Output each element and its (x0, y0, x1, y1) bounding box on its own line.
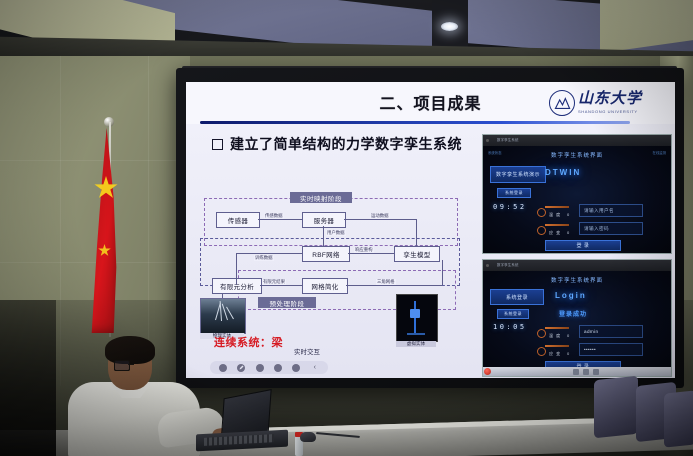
success-app: 数字孪生系统界面 系统登录 系统登录 Login 登录成功 10:05 温 度 … (483, 271, 671, 376)
foreground-shadow (0, 300, 56, 456)
gauge-strain-icon (537, 347, 546, 356)
gauge-temp-bar (545, 327, 569, 329)
physical-entity-photo (200, 298, 246, 334)
edge-fem-mesh (260, 285, 302, 286)
slide: 二、项目成果 山东大学 SHANDONG UNIVERSITY 建立了简单结构的… (186, 82, 675, 378)
menu-icon[interactable] (292, 364, 300, 372)
node-sensor: 传感器 (216, 212, 260, 228)
edge-label-fem-result: 有限元结果 (262, 279, 286, 285)
stage-tag-preprocess: 预处理阶段 (258, 297, 316, 308)
presentation-control-bar[interactable]: ‹ (210, 361, 328, 374)
eyeglasses-icon (114, 360, 150, 369)
university-seal-icon (549, 90, 575, 116)
password-input[interactable]: •••••• (579, 343, 643, 356)
stage-tag-realtime: 实时映射阶段 (290, 192, 352, 203)
gauge-temp-value: 0 (567, 333, 570, 338)
success-clock: 10:05 (493, 323, 527, 331)
screenshot-login-success-window: 数字孪生系统 数字孪生系统界面 系统登录 系统登录 Login 登录成功 10:… (482, 259, 672, 377)
slide-bullet-text: 建立了简单结构的力学数字孪生系统 (230, 134, 462, 154)
gauge-temp-bar (545, 206, 569, 208)
slide-bullet: 建立了简单结构的力学数字孪生系统 (212, 134, 462, 154)
success-brand: Login (555, 291, 587, 300)
edge-label-triangle-mesh: 三角网格 (376, 279, 396, 285)
realtime-interaction-caption: 实时交互 (294, 346, 320, 356)
login-clock: 09:52 (493, 203, 527, 211)
digital-twin-flow-diagram: 实时映射阶段 预处理阶段 传感器 服务器 RBF网络 孪生模型 有限元分析 网格… (198, 194, 476, 339)
presentation-display[interactable]: 二、项目成果 山东大学 SHANDONG UNIVERSITY 建立了简单结构的… (186, 82, 675, 378)
edge-server-twin (344, 219, 416, 220)
edge-label-reconstruct: 响应重构 (354, 247, 374, 253)
edge-label-user-data: 用户数据 (326, 230, 346, 236)
virtual-entity-preview (396, 294, 438, 342)
title-underline (200, 121, 630, 124)
university-wordmark: 山东大学 (578, 92, 642, 107)
node-server: 服务器 (302, 212, 346, 228)
pen-icon[interactable] (237, 364, 245, 372)
edge-fem-rbf (236, 253, 302, 254)
edge-rbf-twin (348, 253, 394, 254)
browser-titlebar: 数字孪生系统 (483, 135, 671, 146)
computer-mouse[interactable] (300, 432, 316, 442)
password-input[interactable]: 请输入密码 (579, 222, 643, 235)
square-bullet-icon (212, 139, 223, 150)
gauge-strain-label: 应 变 (549, 351, 561, 357)
edge-mesh-up (442, 260, 443, 285)
username-input[interactable]: 请输入用户名 (579, 204, 643, 217)
node-twin-model: 孪生模型 (394, 246, 440, 262)
office-chair (664, 390, 693, 447)
windows-taskbar[interactable] (483, 367, 671, 376)
login-corner-right: 在线监测 (652, 150, 666, 155)
edge-mesh-twin (346, 285, 442, 286)
edge-label-training-data: 训练数据 (254, 255, 274, 261)
university-name-en: SHANDONG UNIVERSITY (578, 109, 642, 114)
edge-phys-up (222, 294, 223, 298)
success-side-button[interactable]: 系统登录 (490, 289, 544, 305)
screen-icon[interactable] (274, 364, 282, 372)
prev-slide-icon[interactable]: ‹ (311, 364, 319, 372)
node-fem-analysis: 有限元分析 (212, 278, 262, 294)
start-button-icon[interactable] (484, 368, 491, 375)
wall-seam (0, 262, 190, 263)
edge-server-rbf (323, 226, 324, 246)
browser-tab-label: 数字孪生系统 (497, 262, 519, 267)
ceiling (0, 0, 693, 62)
login-app: 数字孪生系统界面 系统状态 在线监测 数字孪生系统演示 系统登录 DTWIN 0… (483, 146, 671, 253)
gauge-strain-bar (545, 224, 569, 226)
edge-twin-down (416, 219, 417, 246)
gauge-temp-label: 温 度 (549, 212, 561, 218)
node-rbf-network: RBF网络 (302, 246, 350, 262)
virtual-entity-caption: 虚拟实体 (396, 341, 436, 347)
username-input[interactable]: admin (579, 325, 643, 338)
browser-titlebar: 数字孪生系统 (483, 260, 671, 271)
gauge-strain-value: 0 (567, 230, 570, 235)
gauge-strain-bar (545, 345, 569, 347)
gauge-temp-icon (537, 208, 546, 217)
gauge-temp-label: 温 度 (549, 333, 561, 339)
gauge-temp-icon (537, 329, 546, 338)
login-side-button[interactable]: 数字孪生系统演示 (490, 166, 546, 183)
red-annotation: 连续系统：梁 (214, 334, 283, 350)
gauge-temp-value: 0 (567, 212, 570, 217)
screenshot-login-window: 数字孪生系统 数字孪生系统界面 系统状态 在线监测 数字孪生系统演示 系统登录 … (482, 134, 672, 254)
login-app-title: 数字孪生系统界面 (483, 151, 671, 159)
login-small-button[interactable]: 系统登录 (497, 188, 531, 198)
gauge-strain-value: 0 (567, 351, 570, 356)
edge-label-motion-data: 运动数据 (370, 213, 390, 219)
success-app-title: 数字孪生系统界面 (483, 276, 671, 284)
node-mesh-simplify: 网格简化 (302, 278, 348, 294)
edge-sensor-server (258, 219, 302, 220)
office-chair (594, 376, 638, 439)
edge-fem-up (236, 253, 237, 285)
laser-icon[interactable] (256, 364, 264, 372)
success-small-button[interactable]: 系统登录 (497, 309, 529, 319)
gauge-strain-icon (537, 226, 546, 235)
conference-room-photo: 二、项目成果 山东大学 SHANDONG UNIVERSITY 建立了简单结构的… (0, 0, 693, 456)
login-submit-button[interactable]: 登 录 (545, 240, 621, 251)
gauge-strain-label: 应 变 (549, 230, 561, 236)
edge-label-sensor-data: 传感数据 (264, 213, 284, 219)
login-brand: DTWIN (545, 168, 581, 177)
browser-tab-label: 数字孪生系统 (497, 137, 519, 142)
success-status: 登录成功 (559, 309, 587, 318)
login-corner-left: 系统状态 (488, 150, 502, 155)
university-logo: 山东大学 SHANDONG UNIVERSITY (549, 85, 669, 121)
wall-seam (0, 160, 190, 161)
ceiling-downlight-icon (441, 22, 458, 31)
